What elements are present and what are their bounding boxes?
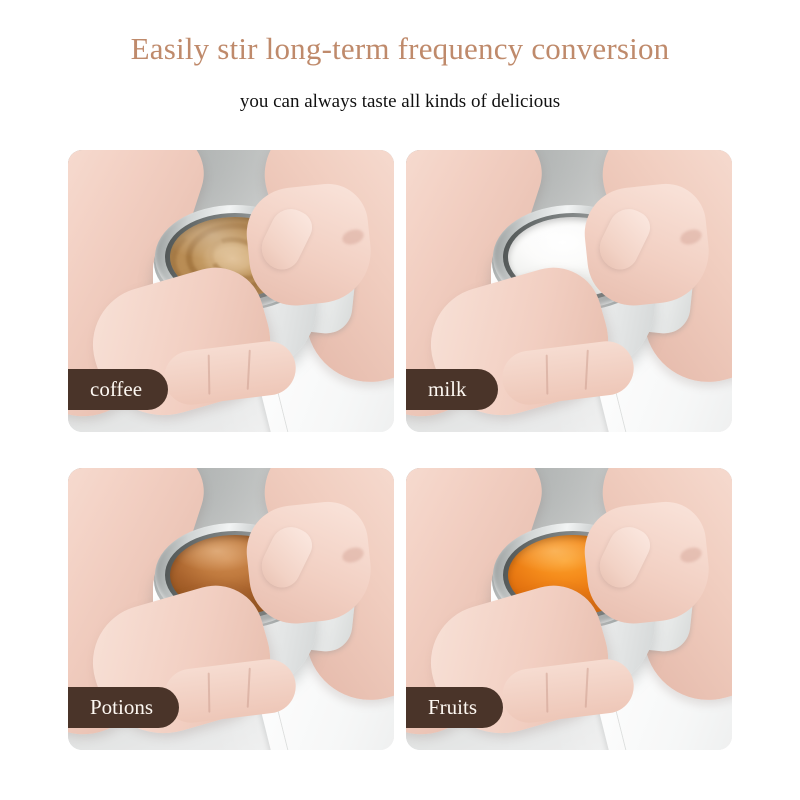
drink-panel-fruits[interactable]: Fruits xyxy=(406,468,732,750)
drink-label-badge: Fruits xyxy=(406,687,503,728)
drink-panel-milk[interactable]: milk xyxy=(406,150,732,432)
drink-panel-potions[interactable]: Potions xyxy=(68,468,394,750)
drink-showcase-grid: coffee xyxy=(68,150,732,776)
drink-label-badge: coffee xyxy=(68,369,168,410)
drink-label-badge: Potions xyxy=(68,687,179,728)
header: Easily stir long-term frequency conversi… xyxy=(0,0,800,114)
drink-label-badge: milk xyxy=(406,369,498,410)
drink-panel-coffee[interactable]: coffee xyxy=(68,150,394,432)
product-promo-page: Easily stir long-term frequency conversi… xyxy=(0,0,800,800)
page-title: Easily stir long-term frequency conversi… xyxy=(0,0,800,69)
page-subtitle: you can always taste all kinds of delici… xyxy=(0,69,800,114)
